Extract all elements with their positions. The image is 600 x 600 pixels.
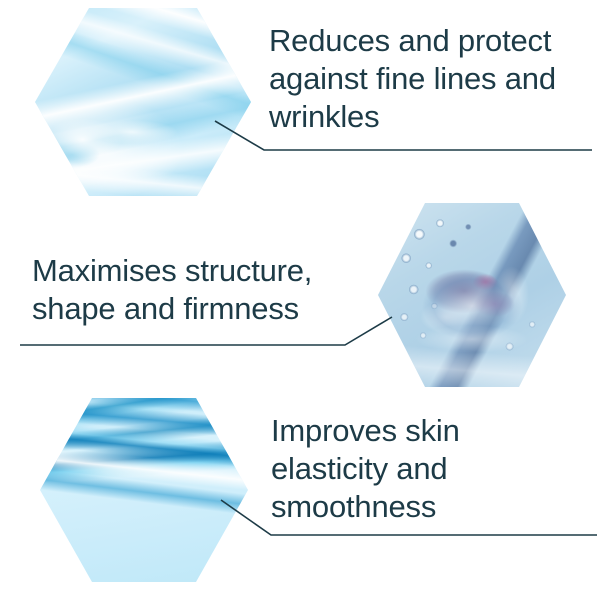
benefits-infographic: Reduces and protect against fine lines a… [0,0,600,600]
hexagon-image-flowing-blue-water [40,398,248,582]
hex-droplet-splash-layer [378,203,566,387]
benefit-caption-improves-elasticity: Improves skin elasticity and smoothness [271,412,571,526]
hexagon-image-blue-cream-swirl-texture [35,8,251,196]
hexagon-image-water-droplet-bubbles [378,203,566,387]
benefit-caption-maximises-structure: Maximises structure, shape and firmness [32,252,362,328]
hex-cream-swirl-bottom-layer [35,8,251,196]
hex-water-wave-bottom-layer [40,398,248,582]
benefit-caption-reduces-wrinkles: Reduces and protect against fine lines a… [269,22,599,136]
